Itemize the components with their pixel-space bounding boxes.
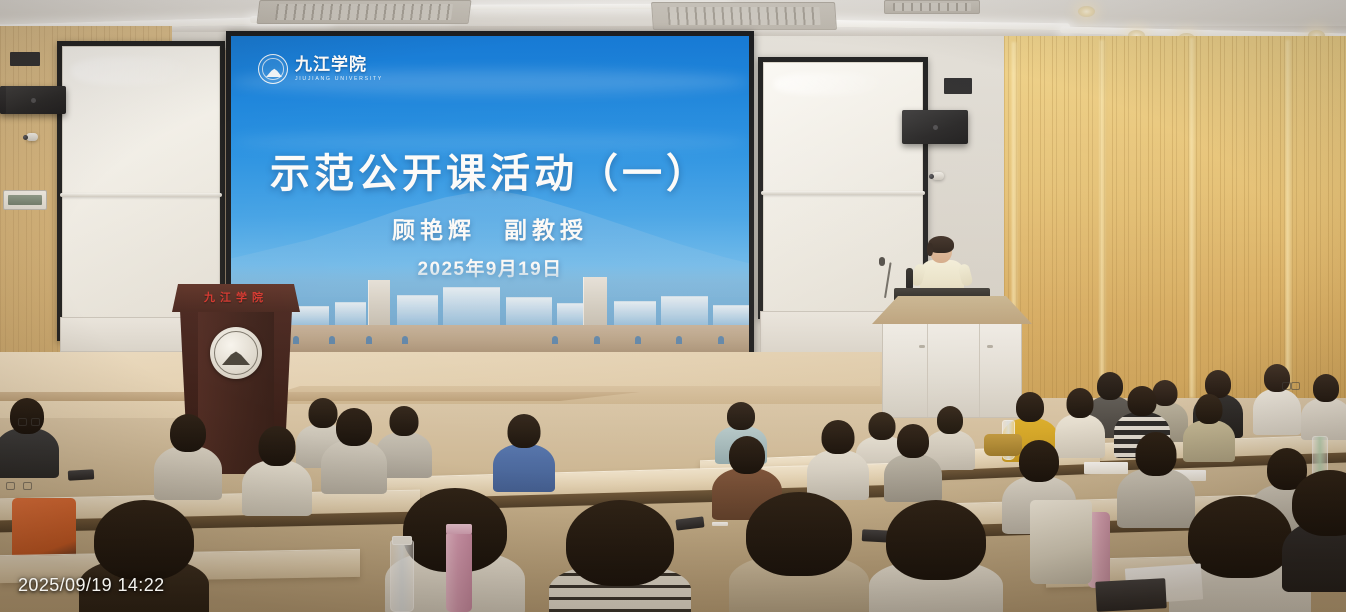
security-camera-left — [26, 133, 38, 141]
pen — [712, 522, 728, 526]
wood-panel-seam — [1286, 40, 1293, 390]
speaker-bracket-left — [10, 52, 40, 66]
eyeglasses — [6, 482, 32, 488]
person-head — [259, 426, 296, 466]
person-torso — [0, 428, 59, 478]
audience-person — [248, 426, 306, 506]
person-head — [1313, 374, 1339, 402]
person-head — [1016, 392, 1044, 422]
ceiling-vent — [257, 0, 472, 24]
podium-wing-left — [180, 310, 200, 430]
person-head — [1196, 394, 1223, 424]
city-building — [661, 296, 708, 327]
tablet-device — [1095, 578, 1166, 612]
audience-person — [0, 398, 54, 470]
audience-person — [1256, 364, 1298, 434]
podium-emblem-icon — [210, 327, 262, 379]
ceiling-vent — [884, 0, 980, 14]
audience-person — [380, 406, 428, 470]
person-head — [1292, 470, 1346, 536]
whiteboard-right-surface — [763, 62, 923, 314]
audience-person — [880, 500, 992, 612]
eyeglasses — [1282, 382, 1300, 388]
water-bottle — [390, 540, 414, 612]
wall-speaker-right — [902, 110, 968, 144]
person-torso — [493, 444, 555, 492]
plaza-bollard — [366, 336, 372, 344]
audience-person — [1304, 374, 1346, 438]
thermos-lid — [446, 524, 472, 534]
person-head — [390, 406, 419, 436]
lectern-microphone-head — [879, 257, 885, 266]
audience-person — [1290, 470, 1346, 590]
pink-thermos — [446, 530, 472, 612]
person-head — [336, 408, 372, 446]
podium-header: 九江学院 — [172, 284, 300, 312]
city-building — [614, 301, 655, 327]
person-head — [937, 406, 963, 434]
person-head — [822, 420, 855, 454]
podium-university-name: 九江学院 — [172, 289, 300, 305]
person-head — [566, 500, 674, 586]
person-head — [170, 414, 206, 452]
person-head — [727, 402, 755, 430]
slide-presenter: 顾艳辉 副教授 — [231, 211, 749, 245]
projection-screen: 九江学院 JIUJIANG UNIVERSITY 示范公开课活动（一） 顾艳辉 … — [226, 31, 754, 358]
lectern-handle — [919, 345, 925, 348]
audience-person — [498, 414, 550, 484]
wall-speaker-left — [0, 86, 66, 114]
plaza-bollard — [594, 336, 600, 344]
plaza-bollard — [635, 336, 641, 344]
person-torso — [1253, 389, 1301, 435]
person-torso — [154, 446, 222, 500]
audience-person — [740, 492, 858, 612]
plaza-bollard — [402, 336, 408, 344]
plaza-bollard — [552, 336, 558, 344]
city-building — [397, 295, 438, 327]
person-head — [729, 436, 765, 474]
ceiling-downlight — [1078, 6, 1095, 17]
wood-panel-seam — [1100, 40, 1107, 410]
whiteboard-left-rail — [60, 193, 221, 197]
person-head — [508, 414, 541, 448]
logo-chinese-name: 九江学院 — [295, 56, 383, 73]
person-torso — [884, 454, 942, 502]
notebook — [1084, 462, 1128, 474]
plaza-bollard — [329, 336, 335, 344]
plaza-bollard — [718, 336, 724, 344]
smartphone — [68, 469, 94, 480]
audience-person — [1186, 394, 1232, 456]
university-emblem-icon — [258, 54, 288, 84]
ceiling-vent — [651, 2, 837, 30]
audience-person — [1124, 432, 1188, 520]
person-torso — [242, 460, 312, 516]
lectern-handle — [987, 345, 993, 348]
person-torso — [321, 440, 387, 494]
slide-campus-cityscape — [231, 265, 749, 327]
wood-panel-seam — [1190, 38, 1197, 398]
slide-university-logo: 九江学院 JIUJIANG UNIVERSITY — [258, 54, 383, 84]
city-building — [506, 297, 553, 327]
person-head — [1188, 496, 1292, 578]
whiteboard-right — [758, 57, 928, 319]
logo-english-name: JIUJIANG UNIVERSITY — [295, 76, 383, 82]
plaza-bollard — [676, 336, 682, 344]
audience-person — [326, 408, 382, 486]
audience-person — [560, 500, 680, 612]
bottle-cap — [392, 536, 412, 545]
projector-housing — [0, 86, 6, 114]
slide-title: 示范公开课活动（一） — [231, 141, 749, 199]
person-torso — [1301, 398, 1346, 440]
person-head — [1128, 386, 1157, 416]
audience-person — [888, 424, 938, 494]
camera-timestamp: 2025/09/19 14:22 — [18, 575, 165, 596]
lecture-hall-photo: 九江学院 JIUJIANG UNIVERSITY 示范公开课活动（一） 顾艳辉 … — [0, 0, 1346, 612]
handheld-microphone — [906, 268, 913, 290]
city-building — [443, 287, 500, 327]
audience-person — [160, 414, 216, 492]
person-head — [746, 492, 852, 576]
speaker-bracket-right — [944, 78, 972, 94]
lectern-desktop — [872, 296, 1032, 324]
whiteboard-glare — [71, 57, 191, 85]
eyeglasses — [18, 418, 40, 424]
presenter-hair — [928, 236, 954, 253]
person-head — [886, 500, 986, 580]
security-camera-right — [932, 172, 944, 180]
person-head — [10, 398, 44, 434]
person-head — [1136, 432, 1177, 476]
wall-control-panel-left — [3, 190, 47, 210]
handbag — [1030, 500, 1092, 584]
person-torso — [1183, 420, 1235, 462]
city-tower — [368, 280, 390, 327]
slide-plaza — [231, 325, 749, 353]
city-building — [713, 305, 749, 327]
city-tower — [583, 277, 607, 327]
whiteboard-glare — [774, 73, 884, 95]
person-head — [1067, 388, 1094, 418]
lectern-cabinet — [882, 322, 1022, 418]
person-head — [1019, 440, 1059, 482]
projection-screen-surface: 九江学院 JIUJIANG UNIVERSITY 示范公开课活动（一） 顾艳辉 … — [231, 36, 749, 353]
person-head — [94, 500, 194, 580]
person-head — [897, 424, 929, 458]
whiteboard-right-rail — [761, 191, 924, 195]
city-building — [335, 302, 366, 327]
podium-wing-right — [272, 310, 292, 430]
audience-person — [812, 420, 864, 492]
